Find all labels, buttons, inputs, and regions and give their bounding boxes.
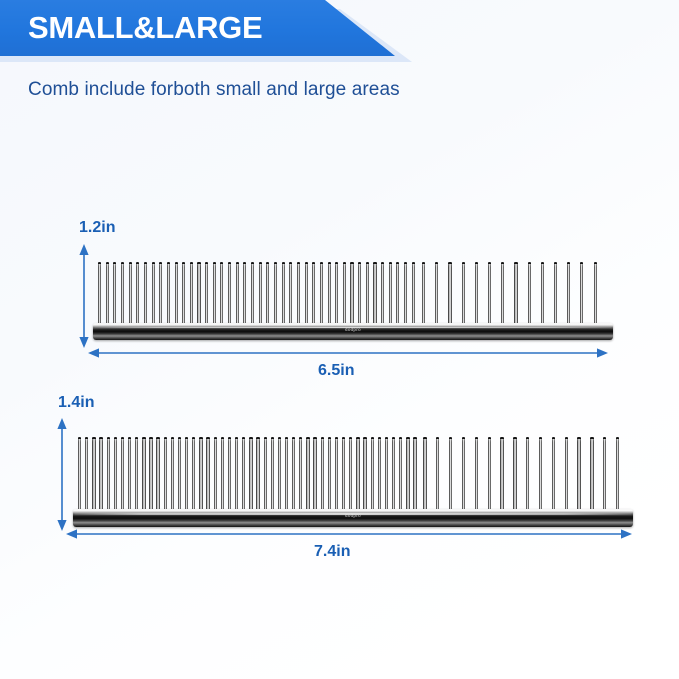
comb-tine-cap bbox=[249, 437, 252, 439]
comb-tine-cap bbox=[603, 437, 606, 439]
comb-tine-cap bbox=[278, 437, 281, 439]
comb-tine-cap bbox=[299, 437, 302, 439]
comb-tine-cap bbox=[135, 437, 138, 439]
comb-tine-cap bbox=[321, 437, 324, 439]
comb-tine-cap bbox=[462, 437, 465, 439]
comb-tine-cap bbox=[192, 437, 195, 439]
comb-tine-cap bbox=[616, 437, 619, 439]
comb-tine-cap bbox=[99, 437, 102, 439]
comb-tine-cap bbox=[475, 437, 478, 439]
comb-tine-cap bbox=[206, 437, 209, 439]
comb-tine-cap bbox=[178, 437, 181, 439]
product-large-comb: dodpro 1.4in 7.4in bbox=[0, 0, 679, 580]
comb-tine-cap bbox=[221, 437, 224, 439]
comb-tine-cap bbox=[228, 437, 231, 439]
comb-tine-cap bbox=[292, 437, 295, 439]
comb-tine-cap bbox=[171, 437, 174, 439]
comb-tine-cap bbox=[371, 437, 374, 439]
large-comb-illustration: dodpro bbox=[76, 422, 632, 527]
comb-tine-cap bbox=[500, 437, 503, 439]
comb-tine-cap bbox=[423, 437, 426, 439]
comb-tine-cap bbox=[164, 437, 167, 439]
comb-tine-cap bbox=[552, 437, 555, 439]
comb-tine-cap bbox=[107, 437, 110, 439]
comb-tine-cap bbox=[335, 437, 338, 439]
comb-tine-cap bbox=[214, 437, 217, 439]
infographic-page: SMALL&LARGE Comb include forboth small a… bbox=[0, 0, 679, 679]
comb-tine-cap bbox=[235, 437, 238, 439]
comb-tine-cap bbox=[199, 437, 202, 439]
comb-tine-cap bbox=[349, 437, 352, 439]
comb-tine-cap bbox=[85, 437, 88, 439]
comb-tine-cap bbox=[242, 437, 245, 439]
comb-tine-cap bbox=[539, 437, 542, 439]
comb-tine-cap bbox=[328, 437, 331, 439]
comb-tine-cap bbox=[590, 437, 593, 439]
comb-tine-cap bbox=[121, 437, 124, 439]
comb-tine-cap bbox=[378, 437, 381, 439]
comb-tine-cap bbox=[513, 437, 516, 439]
large-comb-height-arrow bbox=[54, 418, 70, 531]
large-comb-width-label: 7.4in bbox=[314, 543, 350, 561]
comb-tine-cap bbox=[264, 437, 267, 439]
comb-tine-cap bbox=[392, 437, 395, 439]
comb-tine-cap bbox=[185, 437, 188, 439]
comb-tine-cap bbox=[271, 437, 274, 439]
brand-mark: dodpro bbox=[345, 514, 361, 519]
comb-tine-cap bbox=[256, 437, 259, 439]
comb-tine-cap bbox=[436, 437, 439, 439]
comb-tine-cap bbox=[313, 437, 316, 439]
comb-tine-cap bbox=[356, 437, 359, 439]
large-comb-width-arrow bbox=[66, 526, 632, 542]
comb-tine-cap bbox=[577, 437, 580, 439]
comb-tine-cap bbox=[399, 437, 402, 439]
comb-tine-cap bbox=[149, 437, 152, 439]
comb-tine-cap bbox=[78, 437, 81, 439]
comb-tine-cap bbox=[488, 437, 491, 439]
comb-tine-cap bbox=[342, 437, 345, 439]
comb-tine-cap bbox=[385, 437, 388, 439]
comb-tine-cap bbox=[142, 437, 145, 439]
large-comb-spine: dodpro bbox=[73, 509, 633, 527]
comb-tine-cap bbox=[526, 437, 529, 439]
large-comb-height-label: 1.4in bbox=[58, 394, 94, 412]
comb-tine-cap bbox=[92, 437, 95, 439]
comb-tine-cap bbox=[406, 437, 409, 439]
comb-tine-cap bbox=[363, 437, 366, 439]
comb-tine-cap bbox=[306, 437, 309, 439]
comb-tine-cap bbox=[285, 437, 288, 439]
comb-tine-cap bbox=[114, 437, 117, 439]
comb-tine-cap bbox=[156, 437, 159, 439]
comb-tine-cap bbox=[449, 437, 452, 439]
comb-tine-cap bbox=[128, 437, 131, 439]
comb-tine-cap bbox=[565, 437, 568, 439]
comb-tine-cap bbox=[413, 437, 416, 439]
